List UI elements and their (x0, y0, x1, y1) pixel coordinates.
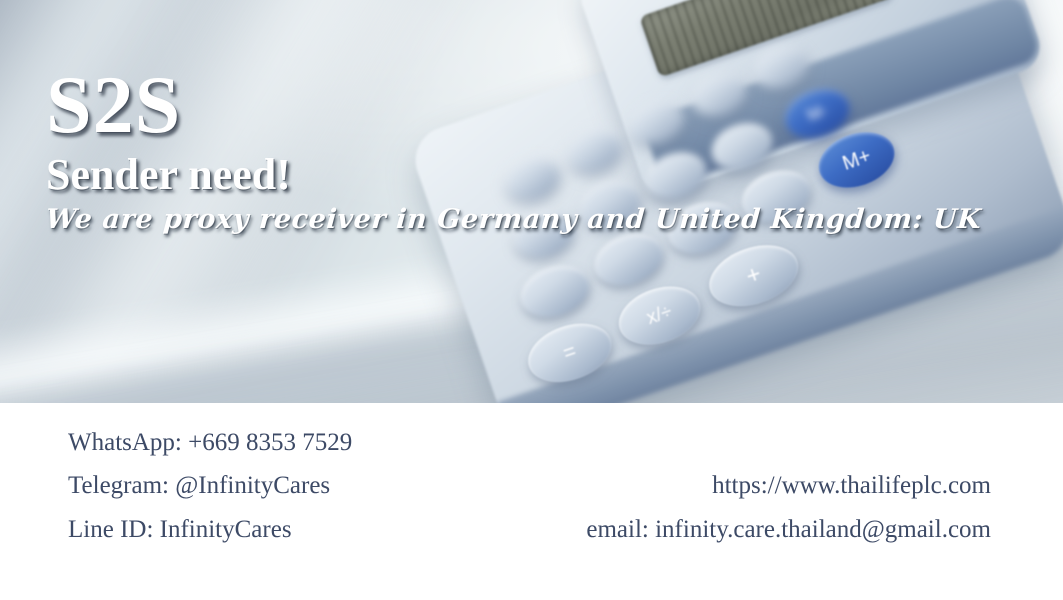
contact-whatsapp[interactable]: WhatsApp: +669 8353 7529 (68, 430, 352, 455)
contact-footer: WhatsApp: +669 8353 7529 Telegram: @Infi… (0, 403, 1063, 600)
calculator-photo-background: M- - M+ = x/÷ + S2S Sender need! We are … (0, 0, 1063, 403)
promo-banner: M- - M+ = x/÷ + S2S Sender need! We are … (0, 0, 1063, 600)
contact-email[interactable]: email: infinity.care.thailand@gmail.com (586, 517, 991, 542)
contact-telegram[interactable]: Telegram: @InfinityCares (68, 473, 330, 498)
contact-website[interactable]: https://www.thailifeplc.com (712, 473, 991, 498)
contact-line-id[interactable]: Line ID: InfinityCares (68, 517, 292, 542)
